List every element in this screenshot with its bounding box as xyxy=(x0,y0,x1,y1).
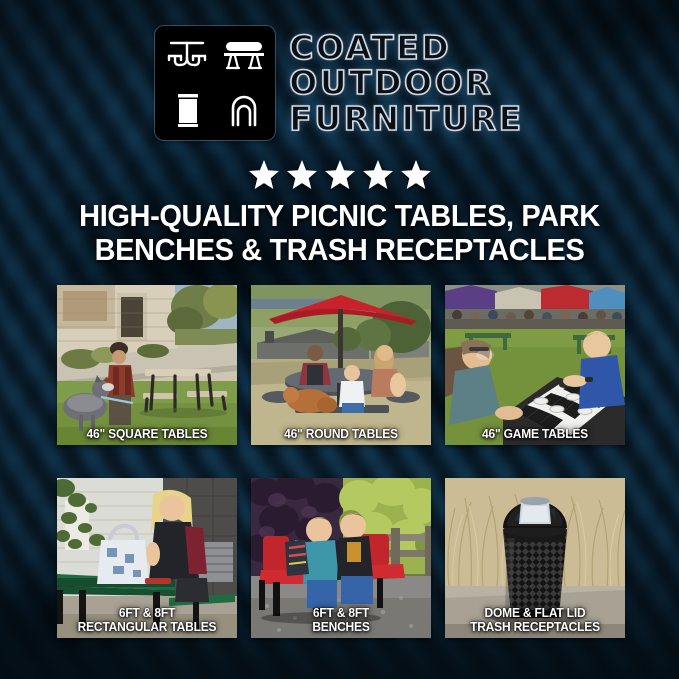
product-caption-trash-receptacles: DOME & FLAT LID TRASH RECEPTACLES xyxy=(449,607,622,634)
caption-line-1: 6FT & 8FT xyxy=(313,606,369,620)
product-caption-benches: 6FT & 8FT BENCHES xyxy=(255,607,428,634)
brand-logo: COATED OUTDOOR FURNITURE xyxy=(0,26,679,140)
caption-line-1: 6FT & 8FT xyxy=(119,606,175,620)
product-caption-square-tables: 46" SQUARE TABLES xyxy=(61,428,234,442)
headline-line-1: HIGH-QUALITY PICNIC TABLES, PARK xyxy=(79,199,600,233)
star-icon xyxy=(401,160,431,189)
product-caption-game-tables: 46" GAME TABLES xyxy=(449,428,622,442)
product-tile-benches[interactable]: 6FT & 8FT BENCHES xyxy=(251,478,431,638)
star-icon xyxy=(325,160,355,189)
picnic-table-icon xyxy=(160,31,214,82)
page-title: HIGH-QUALITY PICNIC TABLES, PARK BENCHES… xyxy=(17,199,662,267)
product-tile-rectangular-tables[interactable]: 6FT & 8FT RECTANGULAR TABLES xyxy=(57,478,237,638)
product-caption-rectangular-tables: 6FT & 8FT RECTANGULAR TABLES xyxy=(61,607,234,634)
caption-line-2: RECTANGULAR TABLES xyxy=(63,621,230,635)
product-tile-square-tables[interactable]: 46" SQUARE TABLES xyxy=(57,285,237,445)
wordmark-line-3: FURNITURE xyxy=(289,102,523,136)
coated-outdoor-furniture-logo xyxy=(155,26,275,140)
caption-line-1: 46" ROUND TABLES xyxy=(284,427,398,441)
wordmark-line-2: OUTDOOR xyxy=(289,66,523,100)
product-photo-square-tables xyxy=(57,285,237,445)
product-tile-round-tables[interactable]: 46" ROUND TABLES xyxy=(251,285,431,445)
product-tile-game-tables[interactable]: 46" GAME TABLES xyxy=(445,285,625,445)
promo-content: COATED OUTDOOR FURNITURE HIGH-QUALITY PI… xyxy=(0,0,679,679)
star-icon xyxy=(363,160,393,189)
brand-wordmark: COATED OUTDOOR FURNITURE xyxy=(289,31,523,136)
caption-line-1: 46" GAME TABLES xyxy=(482,427,588,441)
product-grid: 46" SQUARE TABLES xyxy=(57,285,626,638)
product-caption-round-tables: 46" ROUND TABLES xyxy=(255,428,428,442)
product-photo-round-tables xyxy=(251,285,431,445)
caption-line-2: TRASH RECEPTACLES xyxy=(451,621,618,635)
trash-receptacle-icon xyxy=(160,85,214,136)
caption-line-1: DOME & FLAT LID xyxy=(485,606,586,620)
caption-line-2: BENCHES xyxy=(257,621,424,635)
star-icon xyxy=(287,160,317,189)
product-tile-trash-receptacles[interactable]: DOME & FLAT LID TRASH RECEPTACLES xyxy=(445,478,625,638)
caption-line-1: 46" SQUARE TABLES xyxy=(87,427,208,441)
wordmark-line-1: COATED xyxy=(289,31,523,65)
headline-line-2: BENCHES & TRASH RECEPTACLES xyxy=(17,233,662,267)
park-bench-icon xyxy=(217,31,271,82)
bike-rack-icon xyxy=(217,85,271,136)
star-rating xyxy=(0,160,679,189)
product-photo-game-tables xyxy=(445,285,625,445)
star-icon xyxy=(249,160,279,189)
